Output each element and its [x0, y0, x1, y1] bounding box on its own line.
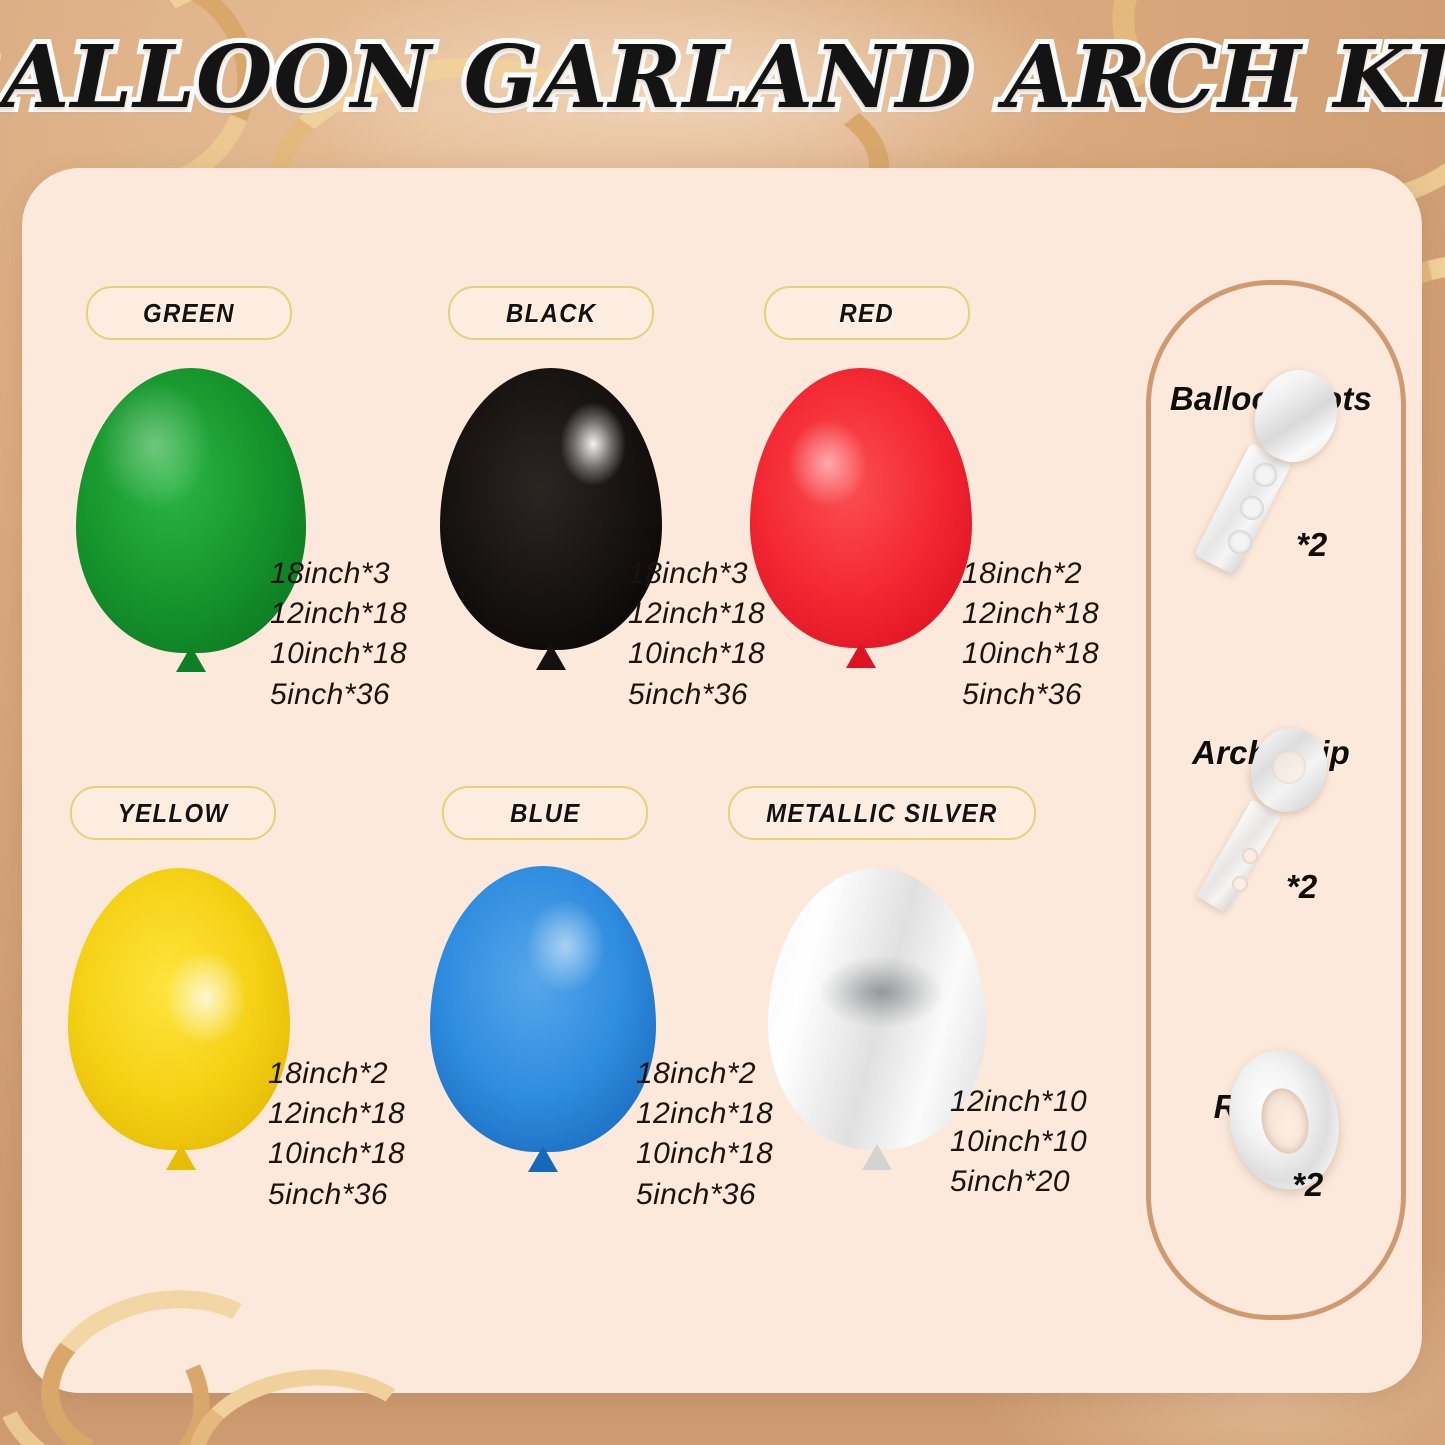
specs-black: 18inch*3 12inch*18 10inch*18 5inch*36: [628, 554, 765, 715]
color-label-green: GREEN: [86, 286, 292, 340]
product-infographic: GREEN 18inch*3 12inch*18 10inch*18 5inch…: [0, 0, 1445, 1445]
tape-roll-dots-icon: [1212, 368, 1362, 578]
section-black: BLACK 18inch*3 12inch*18 10inch*18 5inch…: [428, 286, 783, 806]
accessory-arch-strip: *2 Arch strip: [1146, 728, 1396, 772]
section-red: RED 18inch*2 12inch*18 10inch*18 5inch*3…: [750, 286, 1105, 806]
content-card: GREEN 18inch*3 12inch*18 10inch*18 5inch…: [22, 168, 1422, 1393]
section-yellow: YELLOW 18inch*2 12inch*18 10inch*18 5inc…: [50, 786, 405, 1306]
specs-metallic-silver: 12inch*10 10inch*10 5inch*20: [950, 1082, 1087, 1203]
accessory-ribbon: *2 Ribbon: [1146, 1048, 1396, 1126]
accessory-count-ribbon: *2: [1292, 1166, 1323, 1204]
section-green: GREEN 18inch*3 12inch*18 10inch*18 5inch…: [58, 286, 413, 806]
title-bar: BALLOON GARLAND ARCH KIT: [0, 18, 1445, 136]
color-label-blue: BLUE: [442, 786, 648, 840]
color-label-yellow: YELLOW: [70, 786, 276, 840]
ribbon-spool-icon: [1224, 1048, 1354, 1208]
accessory-count-balloon-dots: *2: [1296, 526, 1327, 564]
specs-red: 18inch*2 12inch*18 10inch*18 5inch*36: [962, 554, 1099, 715]
section-metallic-silver: METALLIC SILVER 12inch*10 10inch*10 5inc…: [728, 786, 1083, 1306]
accessory-count-arch-strip: *2: [1286, 868, 1317, 906]
color-label-red: RED: [764, 286, 970, 340]
specs-green: 18inch*3 12inch*18 10inch*18 5inch*36: [270, 554, 407, 715]
section-blue: BLUE 18inch*2 12inch*18 10inch*18 5inch*…: [418, 786, 773, 1306]
card-inner: GREEN 18inch*3 12inch*18 10inch*18 5inch…: [22, 168, 1422, 1393]
specs-yellow: 18inch*2 12inch*18 10inch*18 5inch*36: [268, 1054, 405, 1215]
color-sections-grid: GREEN 18inch*3 12inch*18 10inch*18 5inch…: [50, 286, 1140, 1356]
balloon-blue: [430, 866, 656, 1152]
balloon-yellow: [68, 868, 290, 1150]
color-label-metallic-silver: METALLIC SILVER: [728, 786, 1036, 840]
balloon-red: [750, 368, 972, 648]
color-label-black: BLACK: [448, 286, 654, 340]
page-title: BALLOON GARLAND ARCH KIT: [0, 27, 1445, 128]
accessory-balloon-dots: *2 Balloon dots: [1146, 368, 1396, 418]
